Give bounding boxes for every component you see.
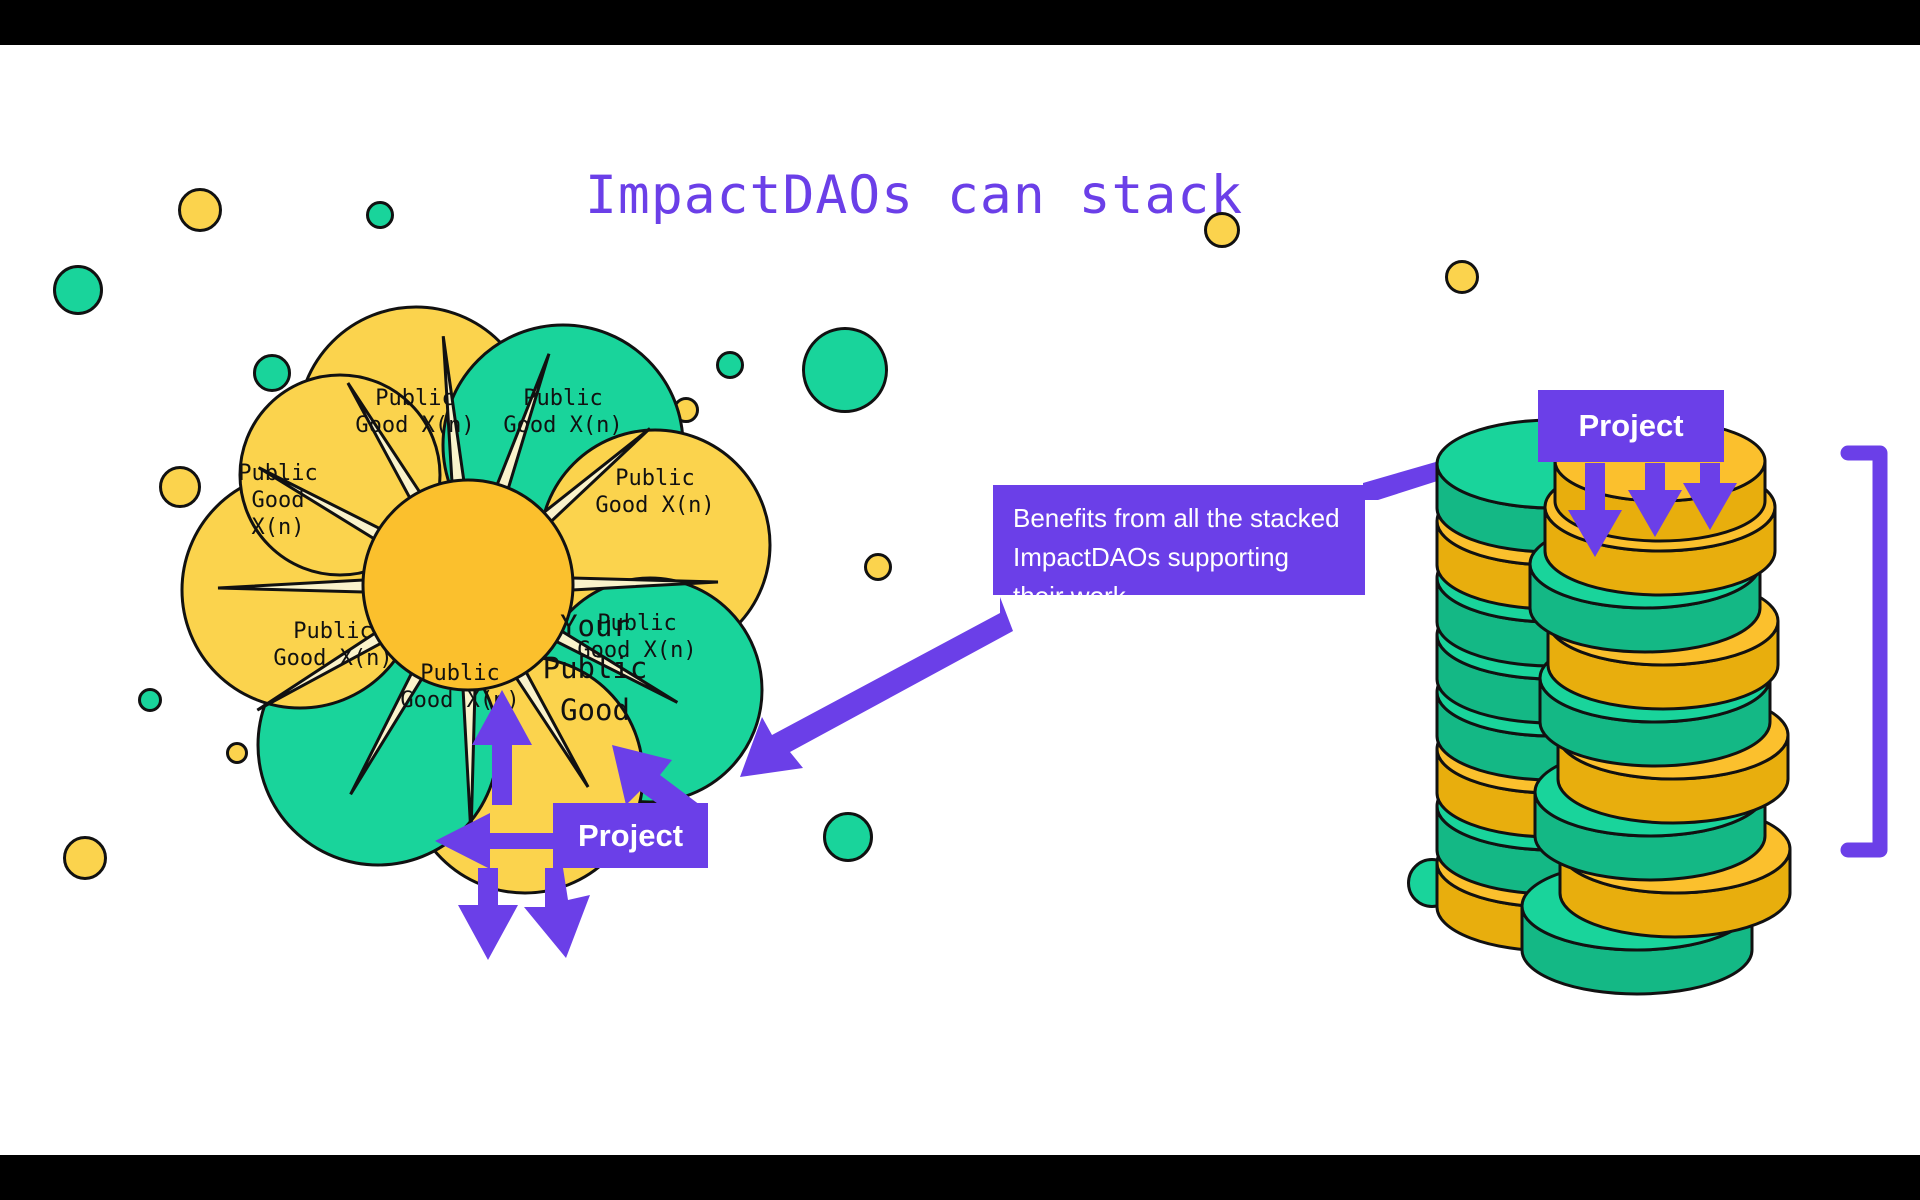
project-badge-coins[interactable]: Project [1538,390,1724,462]
coin-stacks [0,45,1920,1155]
slide-content: ImpactDAOs can stack [0,45,1920,1155]
letterbox-bottom [0,1155,1920,1200]
slide-canvas: ImpactDAOs can stack [0,0,1920,1200]
letterbox-top [0,0,1920,45]
bracket-right [1848,453,1880,850]
